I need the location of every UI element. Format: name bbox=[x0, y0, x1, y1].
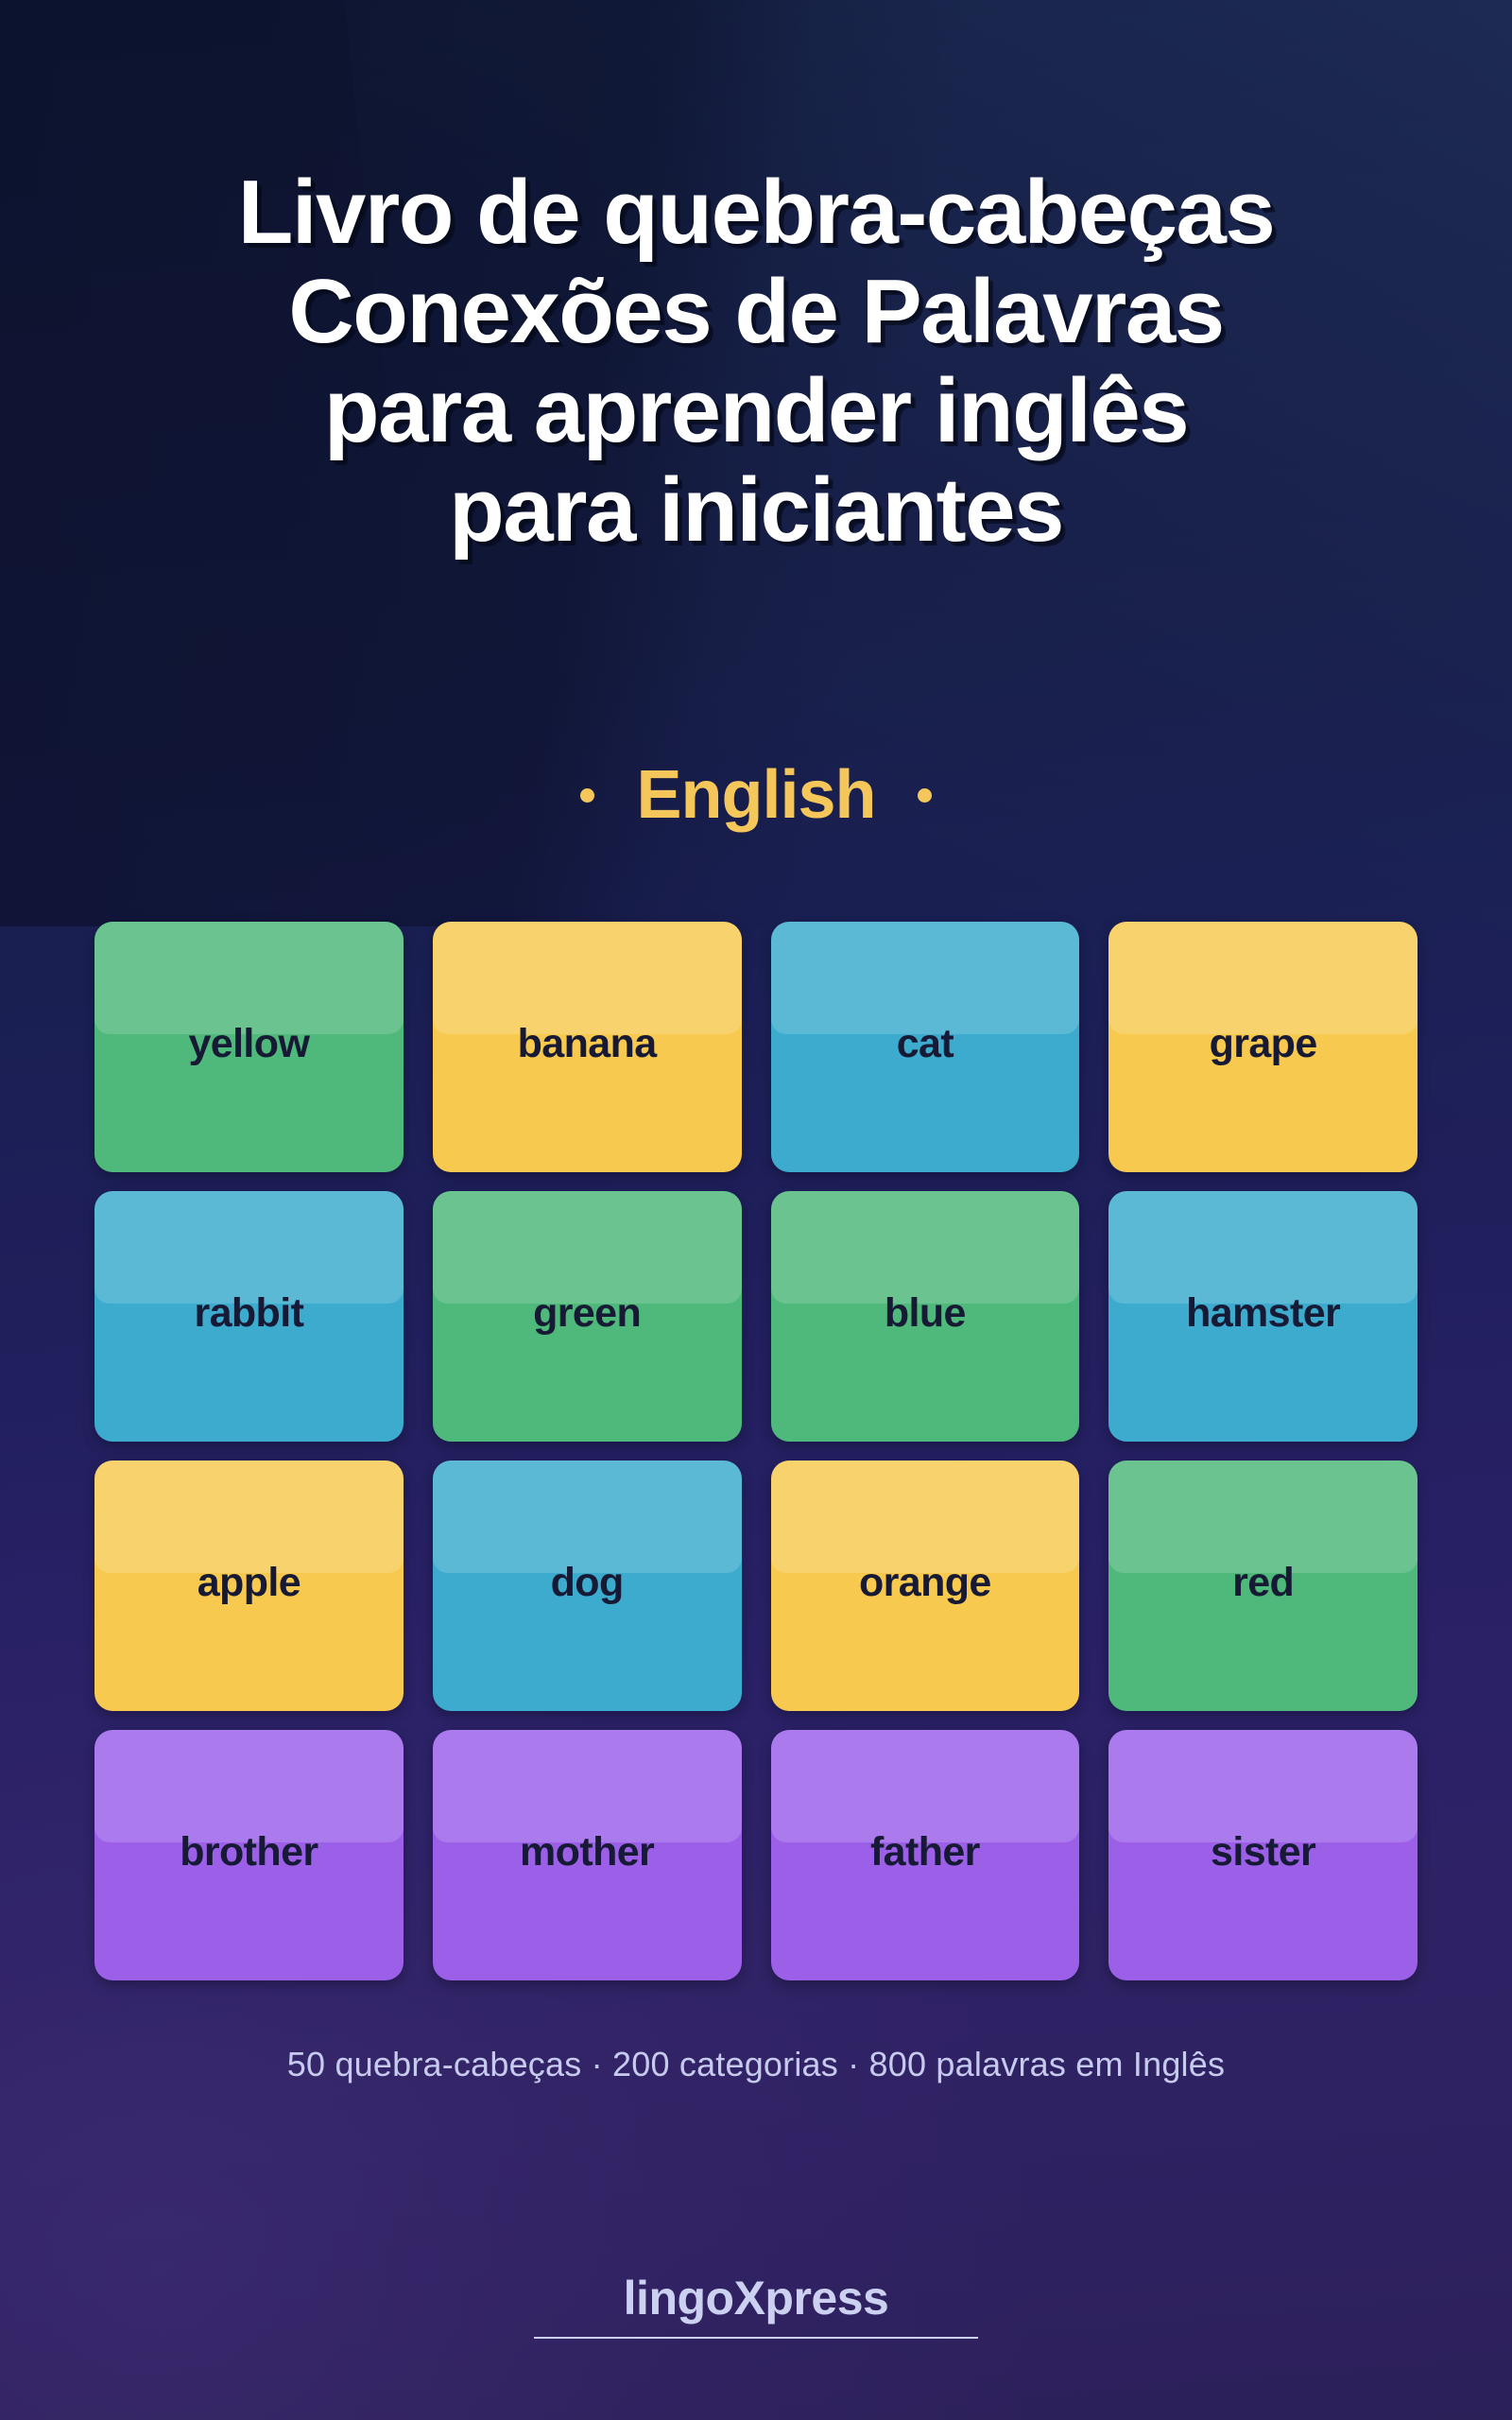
puzzle-grid: yellowbananacatgraperabbitgreenbluehamst… bbox=[94, 922, 1417, 1980]
title-line-1: Livro de quebra-cabeças bbox=[66, 163, 1446, 262]
puzzle-tile-grape[interactable]: grape bbox=[1108, 922, 1417, 1172]
language-label: English bbox=[636, 761, 875, 829]
brand-divider bbox=[534, 2337, 978, 2339]
puzzle-tile-hamster[interactable]: hamster bbox=[1108, 1191, 1417, 1442]
tile-word: grape bbox=[1210, 1024, 1317, 1064]
puzzle-tile-blue[interactable]: blue bbox=[771, 1191, 1080, 1442]
tile-gloss bbox=[771, 1461, 1080, 1573]
puzzle-tile-father[interactable]: father bbox=[771, 1730, 1080, 1980]
tile-word: father bbox=[870, 1832, 980, 1873]
stats-line: 50 quebra-cabeças · 200 categorias · 800… bbox=[0, 2045, 1512, 2084]
tile-word: apple bbox=[198, 1563, 301, 1603]
puzzle-tile-mother[interactable]: mother bbox=[433, 1730, 742, 1980]
puzzle-tile-red[interactable]: red bbox=[1108, 1461, 1417, 1711]
puzzle-tile-brother[interactable]: brother bbox=[94, 1730, 404, 1980]
brand-name: lingoXpress bbox=[0, 2274, 1512, 2322]
tile-gloss bbox=[94, 1461, 404, 1573]
tile-word: cat bbox=[897, 1024, 954, 1064]
tile-gloss bbox=[1108, 922, 1417, 1034]
tile-gloss bbox=[94, 1730, 404, 1842]
tile-word: red bbox=[1232, 1563, 1294, 1603]
title-line-3: para aprender inglês bbox=[66, 361, 1446, 460]
puzzle-tile-banana[interactable]: banana bbox=[433, 922, 742, 1172]
tile-gloss bbox=[433, 1730, 742, 1842]
tile-word: mother bbox=[520, 1832, 654, 1873]
tile-gloss bbox=[771, 1191, 1080, 1304]
tile-word: yellow bbox=[188, 1024, 309, 1064]
tile-word: rabbit bbox=[194, 1293, 303, 1334]
dot-icon-right bbox=[918, 788, 932, 803]
tile-gloss bbox=[433, 1461, 742, 1573]
tile-gloss bbox=[1108, 1730, 1417, 1842]
puzzle-tile-orange[interactable]: orange bbox=[771, 1461, 1080, 1711]
puzzle-tile-cat[interactable]: cat bbox=[771, 922, 1080, 1172]
cover-title: Livro de quebra-cabeças Conexões de Pala… bbox=[0, 163, 1512, 560]
puzzle-tile-dog[interactable]: dog bbox=[433, 1461, 742, 1711]
puzzle-tile-sister[interactable]: sister bbox=[1108, 1730, 1417, 1980]
tile-gloss bbox=[1108, 1191, 1417, 1304]
title-line-2: Conexões de Palavras bbox=[66, 262, 1446, 361]
tile-gloss bbox=[94, 922, 404, 1034]
tile-gloss bbox=[1108, 1461, 1417, 1573]
puzzle-tile-rabbit[interactable]: rabbit bbox=[94, 1191, 404, 1442]
tile-gloss bbox=[94, 1191, 404, 1304]
puzzle-tile-apple[interactable]: apple bbox=[94, 1461, 404, 1711]
tile-word: dog bbox=[551, 1563, 624, 1603]
tile-word: orange bbox=[859, 1563, 991, 1603]
tile-gloss bbox=[433, 922, 742, 1034]
dot-icon-left bbox=[580, 788, 594, 803]
cover-content: Livro de quebra-cabeças Conexões de Pala… bbox=[0, 0, 1512, 2420]
tile-word: banana bbox=[518, 1024, 657, 1064]
tile-word: hamster bbox=[1186, 1293, 1340, 1334]
tile-word: blue bbox=[885, 1293, 966, 1334]
title-line-4: para iniciantes bbox=[66, 460, 1446, 560]
brand-block: lingoXpress bbox=[0, 2274, 1512, 2339]
tile-gloss bbox=[433, 1191, 742, 1304]
puzzle-tile-green[interactable]: green bbox=[433, 1191, 742, 1442]
tile-word: green bbox=[533, 1293, 641, 1334]
tile-gloss bbox=[771, 922, 1080, 1034]
language-badge: English bbox=[0, 761, 1512, 829]
puzzle-tile-yellow[interactable]: yellow bbox=[94, 922, 404, 1172]
book-cover: Livro de quebra-cabeças Conexões de Pala… bbox=[0, 0, 1512, 2420]
tile-word: brother bbox=[180, 1832, 318, 1873]
tile-word: sister bbox=[1211, 1832, 1315, 1873]
tile-gloss bbox=[771, 1730, 1080, 1842]
